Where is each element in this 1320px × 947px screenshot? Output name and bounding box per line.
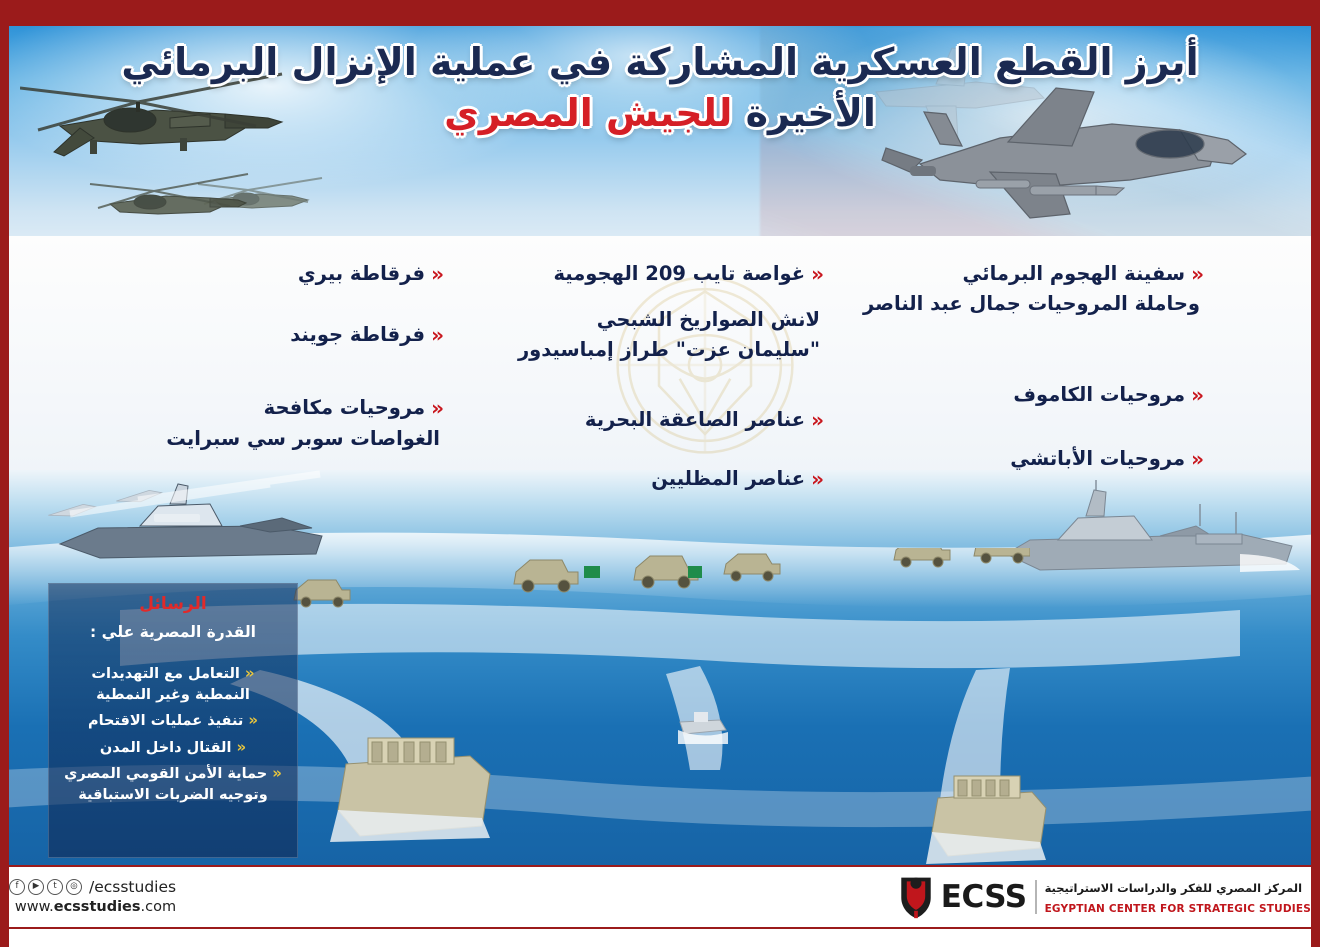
- item-text: الغواصات سوبر سي سبرايت: [100, 424, 440, 454]
- headline-line-2-red: للجيش المصري: [444, 91, 732, 135]
- list-item[interactable]: «فرقاطة جويند: [100, 319, 440, 350]
- messages-panel: الرسائل القدرة المصرية علي : «التعامل مع…: [48, 583, 298, 858]
- chevron-double-left-icon: «: [245, 664, 255, 682]
- chevron-double-left-icon: «: [811, 259, 820, 290]
- footer-branding: ECSS المركز المصري للفكر والدراسات الاست…: [883, 874, 1311, 920]
- item-text: «غواصة تايب 209 الهجومية: [490, 258, 820, 289]
- item-text: «فرقاطة بيري: [100, 258, 440, 289]
- column-right: «سفينة الهجوم البرمائي وحاملة المروحيات …: [900, 258, 1200, 490]
- chevron-double-left-icon: «: [248, 711, 258, 729]
- chevron-double-left-icon: «: [811, 464, 820, 495]
- chevron-double-left-icon: «: [272, 764, 282, 782]
- items-columns: «سفينة الهجوم البرمائي وحاملة المروحيات …: [0, 258, 1320, 488]
- message-item[interactable]: «حماية الأمن القومي المصريوتوجيه الضربات…: [49, 763, 297, 805]
- footer-bar: ECSS المركز المصري للفكر والدراسات الاست…: [9, 865, 1311, 929]
- website-suffix: .com: [141, 899, 177, 915]
- messages-panel-title: الرسائل: [49, 594, 297, 614]
- list-item[interactable]: «سفينة الهجوم البرمائي وحاملة المروحيات …: [900, 258, 1200, 319]
- footer-social: f ▶ t ◎ /ecsstudies www.ecsstudies.com: [9, 877, 194, 917]
- item-text: «سفينة الهجوم البرمائي: [900, 258, 1200, 289]
- headline: أبرز القطع العسكرية المشاركة في عملية ال…: [0, 40, 1320, 136]
- chevron-double-left-icon: «: [1191, 444, 1200, 475]
- website-main: ecsstudies: [54, 899, 141, 915]
- social-row: f ▶ t ◎ /ecsstudies: [9, 877, 176, 898]
- list-item[interactable]: «مروحيات الأباتشي: [900, 443, 1200, 474]
- messages-list: «التعامل مع التهديداتالنمطية وغير النمطي…: [49, 663, 297, 805]
- messages-panel-subtitle: القدرة المصرية علي :: [49, 623, 297, 641]
- item-text: «مروحيات الكاموف: [900, 379, 1200, 410]
- divider: [1035, 880, 1037, 914]
- chevron-double-left-icon: «: [1191, 259, 1200, 290]
- infographic-poster: أبرز القطع العسكرية المشاركة في عملية ال…: [0, 0, 1320, 947]
- landing-craft-left: [320, 718, 510, 848]
- item-text: «عناصر الصاعقة البحرية: [490, 404, 820, 435]
- frigate-ship: [1000, 478, 1312, 588]
- headline-line-2: الأخيرة للجيش المصري: [0, 91, 1320, 136]
- facebook-icon[interactable]: f: [9, 879, 25, 895]
- list-item[interactable]: «مروحيات الكاموف: [900, 379, 1200, 410]
- item-text: «فرقاطة جويند: [100, 319, 440, 350]
- list-item[interactable]: «عناصر المظليين: [490, 463, 820, 494]
- list-item[interactable]: «غواصة تايب 209 الهجومية: [490, 258, 820, 289]
- item-text: «مروحيات الأباتشي: [900, 443, 1200, 474]
- chevron-double-left-icon: «: [431, 259, 440, 290]
- item-text: وحاملة المروحيات جمال عبد الناصر: [900, 289, 1200, 319]
- chevron-double-left-icon: «: [431, 393, 440, 424]
- spacer: [900, 335, 1200, 357]
- landing-craft-right: [920, 760, 1060, 870]
- twitter-icon[interactable]: t: [47, 879, 63, 895]
- apache-helicopter-small-1: [88, 162, 253, 232]
- spacer: [900, 357, 1200, 379]
- social-handle[interactable]: /ecsstudies: [89, 877, 176, 898]
- item-text: لانش الصواريخ الشبحي: [490, 305, 820, 335]
- item-text: «عناصر المظليين: [490, 463, 820, 494]
- column-left: «فرقاطة بيري «فرقاطة جويند «مروحيات مكاف…: [100, 258, 440, 470]
- bottom-white-strip: [0, 929, 1320, 947]
- list-item[interactable]: لانش الصواريخ الشبحي "سليمان عزت" طراز إ…: [490, 305, 820, 365]
- list-item[interactable]: «مروحيات مكافحة الغواصات سوبر سي سبرايت: [100, 392, 440, 453]
- headline-line-2-dark: الأخيرة: [732, 91, 876, 135]
- top-red-bar: [0, 0, 1320, 26]
- rib-boat: [672, 700, 732, 746]
- chevron-double-left-icon: «: [431, 320, 440, 351]
- ecss-logo-icon: [897, 874, 935, 920]
- column-middle: «غواصة تايب 209 الهجومية لانش الصواريخ ا…: [490, 258, 820, 510]
- ecss-names: المركز المصري للفكر والدراسات الاستراتيج…: [1045, 877, 1311, 917]
- beach-vehicles: [290, 548, 1030, 628]
- chevron-double-left-icon: «: [1191, 380, 1200, 411]
- item-text: "سليمان عزت" طراز إمباسيدور: [490, 335, 820, 365]
- instagram-icon[interactable]: ◎: [66, 879, 82, 895]
- youtube-icon[interactable]: ▶: [28, 879, 44, 895]
- ecss-name-arabic: المركز المصري للفكر والدراسات الاستراتيج…: [1045, 881, 1302, 895]
- right-red-border: [1311, 0, 1320, 947]
- list-item[interactable]: «فرقاطة بيري: [100, 258, 440, 289]
- website-prefix: www.: [15, 899, 54, 915]
- headline-line-1: أبرز القطع العسكرية المشاركة في عملية ال…: [0, 40, 1320, 85]
- list-item[interactable]: «عناصر الصاعقة البحرية: [490, 404, 820, 435]
- message-item[interactable]: «تنفيذ عمليات الاقتحام: [49, 710, 297, 732]
- chevron-double-left-icon: «: [236, 738, 246, 756]
- chevron-double-left-icon: «: [811, 405, 820, 436]
- message-item[interactable]: «القتال داخل المدن: [49, 737, 297, 759]
- left-red-border: [0, 0, 9, 947]
- website-url[interactable]: www.ecsstudies.com: [9, 898, 176, 918]
- item-text: «مروحيات مكافحة: [100, 392, 440, 423]
- ecss-name-english: EGYPTIAN CENTER FOR STRATEGIC STUDIES: [1045, 903, 1311, 915]
- message-item[interactable]: «التعامل مع التهديداتالنمطية وغير النمطي…: [49, 663, 297, 705]
- ecss-wordmark: ECSS: [941, 882, 1027, 913]
